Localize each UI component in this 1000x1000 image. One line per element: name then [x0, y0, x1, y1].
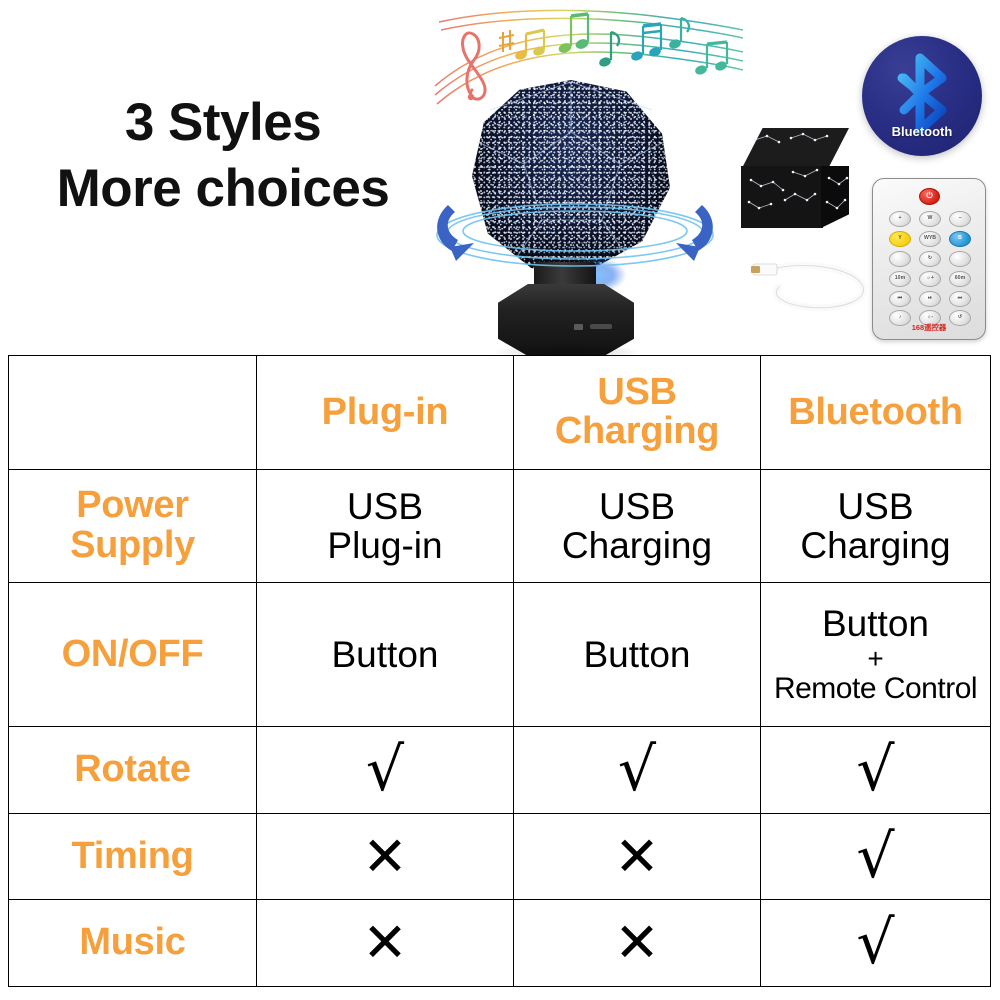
column-header-bluetooth-line1: Bluetooth: [788, 391, 963, 433]
cell-text-line2: Charging: [562, 525, 712, 566]
usb-cable-image: [745, 245, 885, 325]
column-header-plug-in-line1: Plug-in: [322, 391, 449, 433]
cell-text-line1: Button: [822, 603, 929, 644]
remote-flash-button: [949, 251, 971, 267]
row-label-music: Music: [9, 900, 257, 987]
rotation-arrows-icon: [430, 185, 720, 280]
remote-b-button: B: [949, 231, 971, 247]
column-header-usb-charging-line1: USB: [597, 371, 676, 413]
remote-model-label: 168遥控器: [873, 322, 985, 333]
cell-text-line1: Button: [584, 634, 691, 675]
table-row-music: Music ✕ ✕ √: [9, 900, 991, 987]
row-label-on-off: ON/OFF: [9, 583, 257, 727]
row-label-timing: Timing: [9, 813, 257, 900]
remote-plus-button: +: [889, 211, 911, 227]
cell-timing-plug-in: ✕: [257, 813, 514, 900]
cell-power-supply-usb-charging: USB Charging: [514, 469, 761, 583]
remote-timer-10min-button: 10m: [889, 271, 911, 287]
cell-music-plug-in: ✕: [257, 900, 514, 987]
table-row-power-supply: Power Supply USB Plug-in USB Charging US…: [9, 469, 991, 583]
cell-on-off-usb-charging: Button: [514, 583, 761, 727]
projector-button: [574, 324, 583, 330]
check-mark: √: [856, 908, 894, 978]
remote-brightness-up-button: ☼+: [919, 271, 941, 287]
remote-play-pause-button: ⏯: [919, 291, 941, 307]
remote-previous-button: ⏮: [889, 291, 911, 307]
column-header-usb-charging: USB Charging: [514, 356, 761, 470]
bluetooth-badge: Bluetooth: [862, 36, 982, 156]
check-mark: √: [856, 822, 894, 892]
constellation-box-image: [735, 128, 855, 233]
cell-power-supply-bluetooth: USB Charging: [761, 469, 991, 583]
cell-text-line1: Button: [332, 634, 439, 675]
row-label-power-supply: Power Supply: [9, 469, 257, 583]
drop-shadow: [492, 344, 642, 355]
check-mark: √: [366, 735, 404, 805]
remote-next-button: ⏭: [949, 291, 971, 307]
remote-y-button: Y: [889, 231, 911, 247]
row-label-timing-line1: Timing: [71, 835, 193, 877]
hero-illustration: 3 Styles More choices: [0, 0, 1000, 355]
table-row-on-off: ON/OFF Button Button Button + Remote Con…: [9, 583, 991, 727]
cell-music-bluetooth: √: [761, 900, 991, 987]
headline-block: 3 Styles More choices: [8, 96, 438, 216]
cross-mark: ✕: [362, 825, 407, 888]
check-mark: √: [618, 735, 656, 805]
headline-line-1: 3 Styles: [8, 96, 438, 150]
table-header-row: Plug-in USB Charging Bluetooth: [9, 356, 991, 470]
cell-rotate-usb-charging: √: [514, 727, 761, 814]
cell-rotate-bluetooth: √: [761, 727, 991, 814]
cell-text-line1: USB: [347, 486, 423, 527]
row-label-music-line1: Music: [79, 921, 185, 963]
cell-text-line1: USB: [837, 486, 913, 527]
remote-wyb-button: WYB: [919, 231, 941, 247]
cross-mark: ✕: [362, 911, 407, 974]
table-corner-cell: [9, 356, 257, 470]
cell-rotate-plug-in: √: [257, 727, 514, 814]
remote-control-image: ⏻ + W − Y WYB B ↻ 10m ☼+ 60m ⏮ ⏯ ⏭ ♪ ☼- …: [872, 178, 986, 340]
cell-music-usb-charging: ✕: [514, 900, 761, 987]
cell-power-supply-plug-in: USB Plug-in: [257, 469, 514, 583]
cell-text-line2: Plug-in: [327, 525, 442, 566]
remote-timer-60min-button: 60m: [949, 271, 971, 287]
cell-on-off-bluetooth: Button + Remote Control: [761, 583, 991, 727]
comparison-table: Plug-in USB Charging Bluetooth Power Sup…: [8, 355, 991, 987]
projector-usb-port: [590, 324, 612, 329]
check-mark: √: [856, 735, 894, 805]
remote-fast-button: [889, 251, 911, 267]
cell-timing-bluetooth: √: [761, 813, 991, 900]
cross-mark: ✕: [614, 911, 659, 974]
row-label-on-off-line1: ON/OFF: [62, 633, 204, 675]
remote-power-button: ⏻: [919, 188, 940, 205]
row-label-rotate-line1: Rotate: [74, 748, 190, 790]
comparison-table-wrapper: Plug-in USB Charging Bluetooth Power Sup…: [8, 355, 990, 987]
table-row-timing: Timing ✕ ✕ √: [9, 813, 991, 900]
cross-mark: ✕: [614, 825, 659, 888]
column-header-bluetooth: Bluetooth: [761, 356, 991, 470]
remote-w-button: W: [919, 211, 941, 227]
row-label-power-supply-line2: Supply: [70, 524, 195, 566]
table-row-rotate: Rotate √ √ √: [9, 727, 991, 814]
cell-text-line3: Remote Control: [763, 673, 988, 705]
cell-text-line1: USB: [599, 486, 675, 527]
cell-on-off-plug-in: Button: [257, 583, 514, 727]
row-label-power-supply-line1: Power: [76, 484, 189, 526]
column-header-usb-charging-line2: Charging: [555, 410, 719, 452]
column-header-plug-in: Plug-in: [257, 356, 514, 470]
remote-rotate-button: ↻: [919, 251, 941, 267]
row-label-rotate: Rotate: [9, 727, 257, 814]
headline-line-2: More choices: [8, 162, 438, 216]
cell-timing-usb-charging: ✕: [514, 813, 761, 900]
bluetooth-badge-label: Bluetooth: [862, 124, 982, 139]
cell-text-plus: +: [763, 644, 988, 673]
cell-text-line2: Charging: [800, 525, 950, 566]
remote-minus-button: −: [949, 211, 971, 227]
